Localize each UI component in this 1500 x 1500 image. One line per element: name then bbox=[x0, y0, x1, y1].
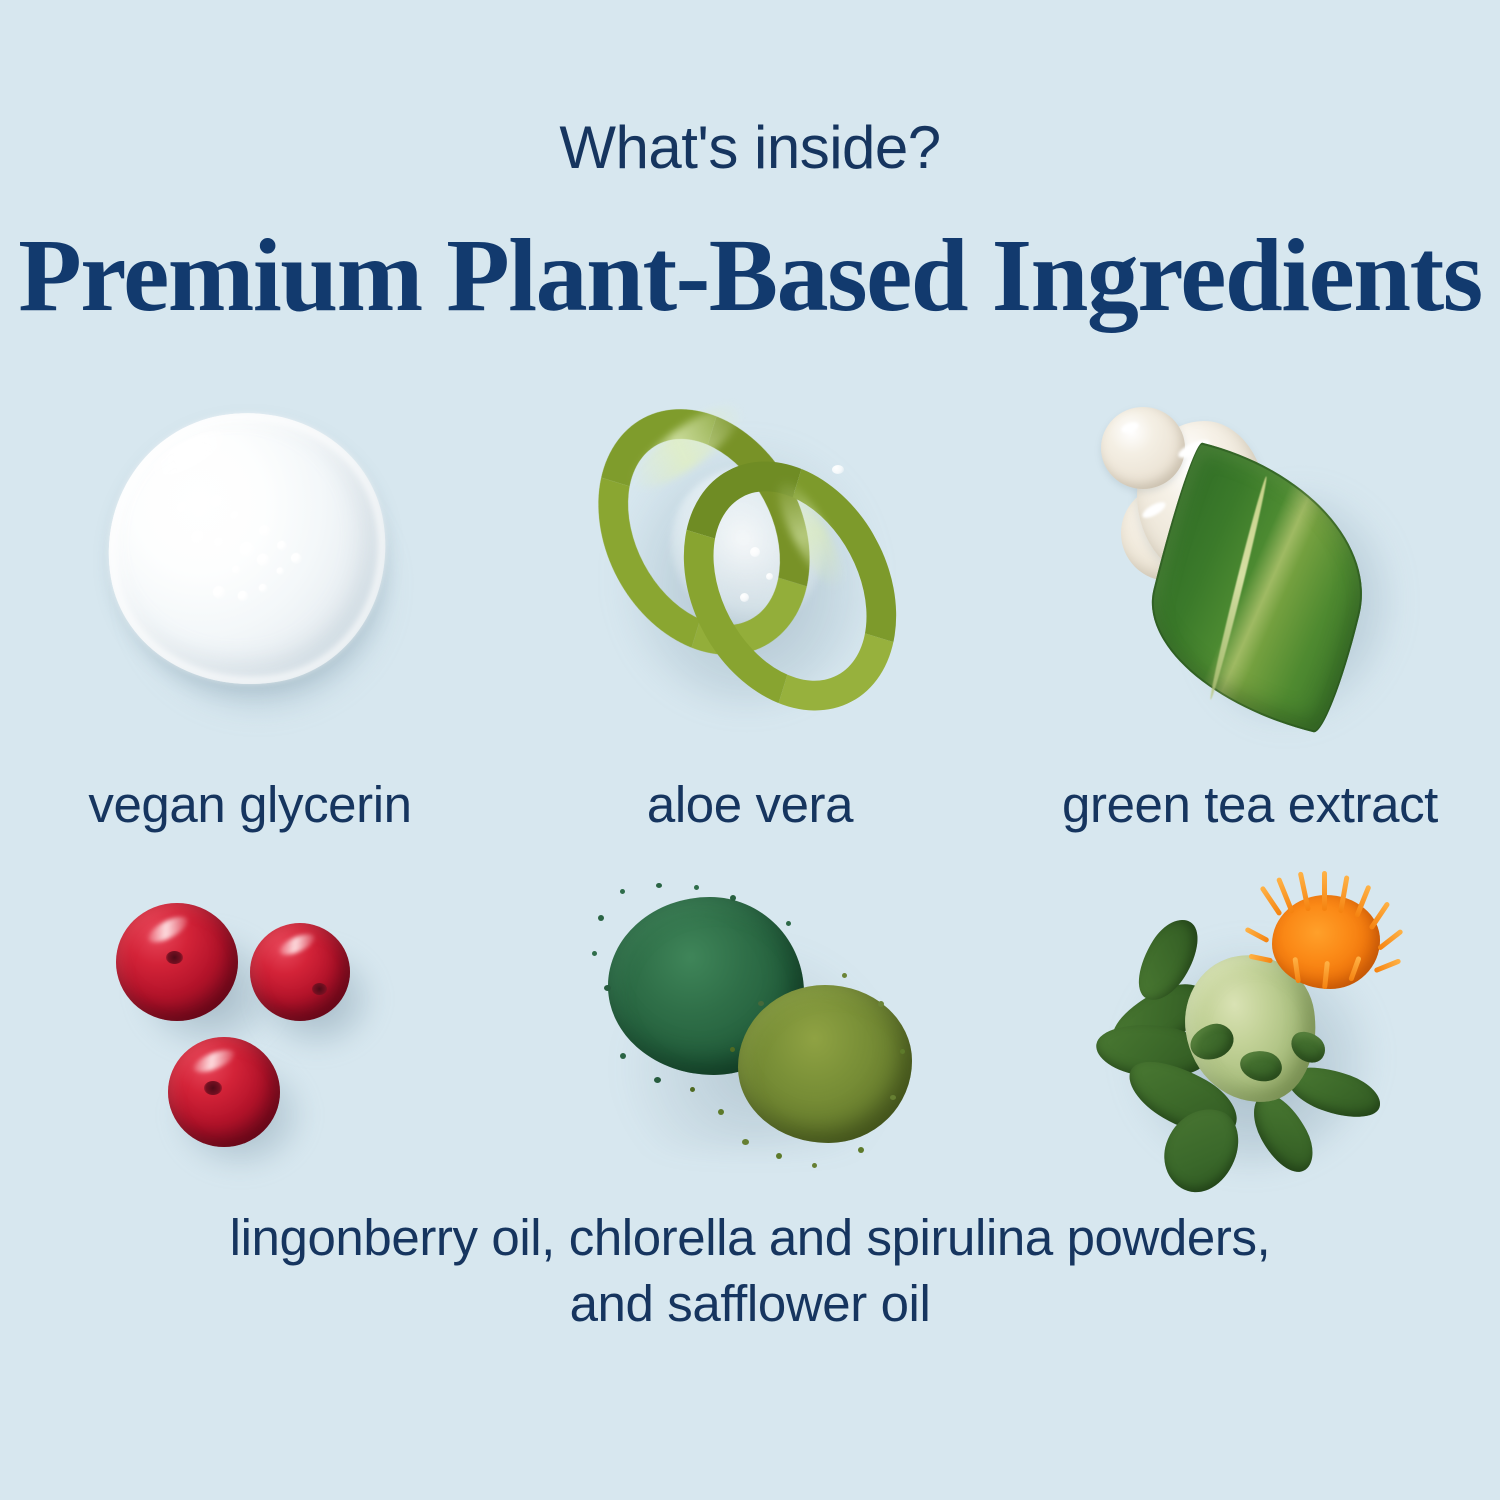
caption-line-2: and safflower oil bbox=[80, 1271, 1420, 1337]
ingredient-cell-safflower bbox=[1000, 875, 1500, 1215]
eyebrow-text: What's inside? bbox=[0, 113, 1500, 182]
berry-calyx bbox=[312, 983, 327, 995]
ingredients-infographic: What's inside? Premium Plant-Based Ingre… bbox=[0, 0, 1500, 1500]
page-title: Premium Plant-Based Ingredients bbox=[0, 216, 1500, 335]
serum-droplet-small bbox=[1101, 407, 1185, 489]
ingredient-cell-powders bbox=[500, 875, 1000, 1215]
ingredient-label-aloe-vera: aloe vera bbox=[500, 775, 1000, 834]
caption-line-1: lingonberry oil, chlorella and spirulina… bbox=[80, 1205, 1420, 1271]
berry-calyx bbox=[204, 1081, 222, 1095]
dew-drop bbox=[740, 593, 749, 602]
glycerin-droplet-image bbox=[100, 403, 400, 723]
ingredient-row-2 bbox=[0, 875, 1500, 1215]
ingredient-cell-vegan-glycerin bbox=[0, 395, 500, 735]
ingredient-row-1 bbox=[0, 395, 1500, 735]
dew-drop bbox=[766, 573, 773, 580]
ingredient-caption-row-2: lingonberry oil, chlorella and spirulina… bbox=[80, 1205, 1420, 1337]
dew-drop bbox=[750, 547, 760, 557]
ingredient-cell-green-tea-extract bbox=[1000, 395, 1500, 735]
ingredient-labels-row-1: vegan glycerin aloe vera green tea extra… bbox=[0, 775, 1500, 834]
ingredient-cell-lingonberry bbox=[0, 875, 500, 1215]
dew-drop bbox=[832, 465, 844, 474]
aloe-vera-leaf-image bbox=[600, 397, 900, 733]
ingredient-cell-aloe-vera bbox=[500, 395, 1000, 735]
green-tea-leaf-image bbox=[1085, 399, 1415, 735]
safflower-image bbox=[1090, 875, 1410, 1205]
ingredient-label-green-tea-extract: green tea extract bbox=[1000, 775, 1500, 834]
ingredient-label-vegan-glycerin: vegan glycerin bbox=[0, 775, 500, 834]
bubble-cluster bbox=[170, 479, 337, 629]
chlorella-spirulina-powder-image bbox=[590, 881, 910, 1191]
scattered-powder-granules bbox=[590, 881, 910, 1191]
lingonberry-image bbox=[100, 885, 400, 1185]
berry-calyx bbox=[166, 951, 183, 964]
